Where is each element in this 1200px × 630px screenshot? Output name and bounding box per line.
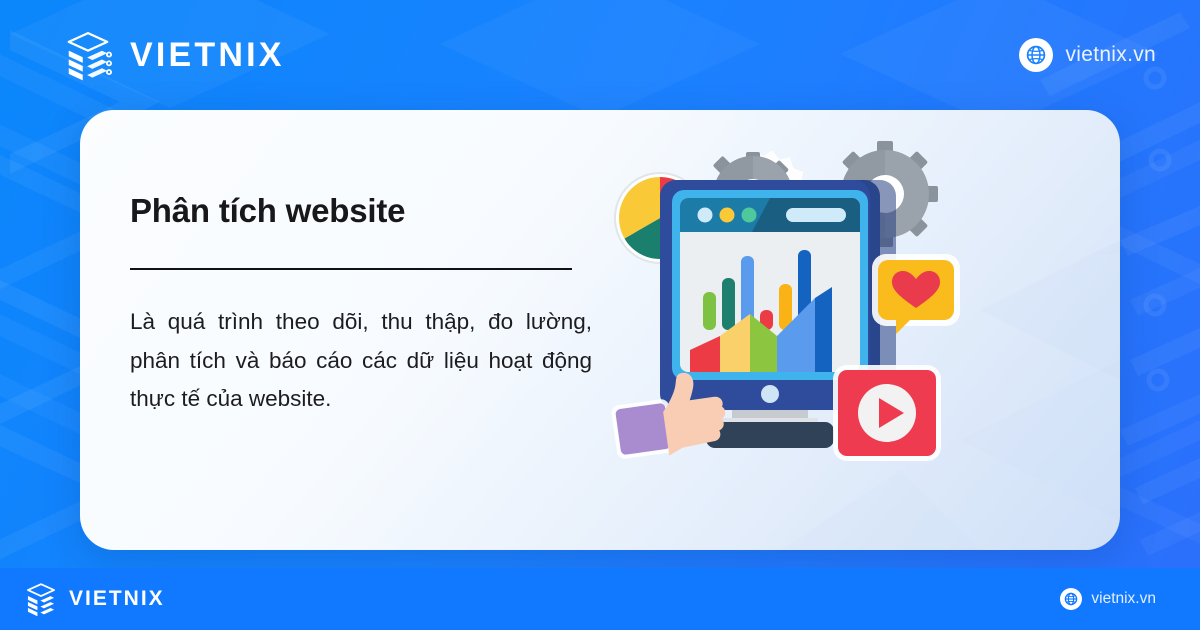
browser-dot-blue: [698, 208, 713, 223]
heart-speech-bubble-icon: [872, 254, 960, 334]
footer-brand-logo[interactable]: VIETNIX: [22, 580, 165, 618]
site-url-link[interactable]: vietnix.vn: [1019, 38, 1156, 72]
monitor-stand: [706, 422, 834, 448]
globe-icon: [1060, 588, 1082, 610]
browser-dot-yellow: [720, 208, 735, 223]
website-analytics-illustration: [610, 132, 970, 477]
page-title: Phân tích website: [130, 192, 600, 230]
page-header: VIETNIX vietnix.vn: [0, 0, 1200, 110]
card-text-block: Phân tích website Là quá trình theo dõi,…: [130, 192, 600, 419]
footer-site-url-text: vietnix.vn: [1091, 590, 1156, 608]
stacked-layers-icon: [22, 580, 60, 618]
footer-site-url-link[interactable]: vietnix.vn: [1060, 588, 1156, 610]
play-button-icon: [833, 365, 941, 461]
content-card: Phân tích website Là quá trình theo dõi,…: [80, 110, 1120, 550]
globe-icon: [1019, 38, 1053, 72]
brand-name: VIETNIX: [130, 36, 285, 75]
browser-window-icon: [672, 190, 868, 380]
page-footer: VIETNIX vietnix.vn: [0, 568, 1200, 630]
card-description: Là quá trình theo dõi, thu thập, đo lườn…: [130, 303, 592, 419]
title-divider: [130, 268, 572, 270]
browser-dot-green: [742, 208, 757, 223]
stacked-layers-icon: [60, 27, 116, 83]
brand-logo[interactable]: VIETNIX: [60, 27, 285, 83]
browser-address-bar: [786, 208, 846, 222]
footer-brand-name: VIETNIX: [69, 587, 165, 611]
site-url-text: vietnix.vn: [1065, 43, 1156, 67]
